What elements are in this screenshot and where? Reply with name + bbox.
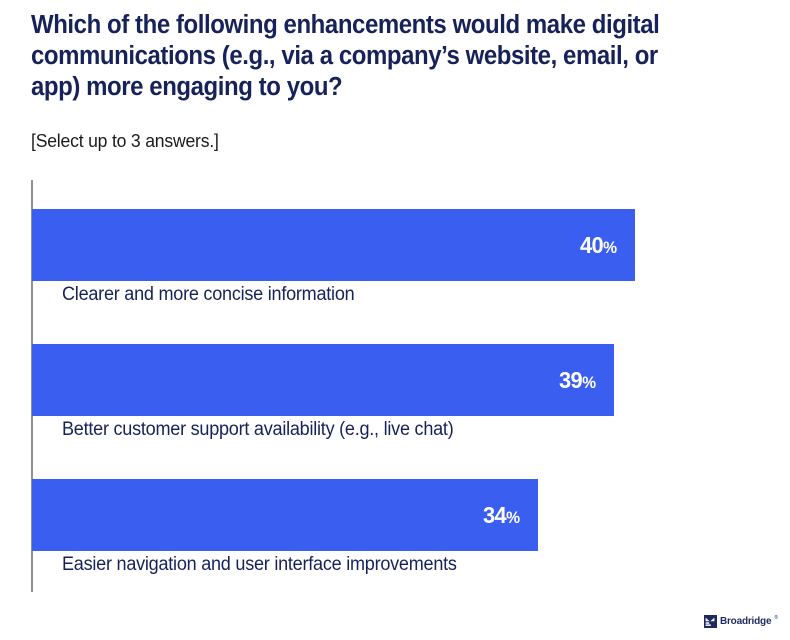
bar-value-label: 39% [559, 369, 596, 392]
bar-value-label: 40% [580, 234, 617, 257]
brand-trademark: ® [774, 616, 778, 621]
bar-better-customer-support-availability[interactable]: 39% [32, 344, 614, 416]
brand-name: Broadridge [720, 617, 771, 627]
percent-sign: % [506, 509, 520, 527]
bar-clearer-and-more-concise-information[interactable]: 40% [32, 209, 635, 281]
bar-value-label: 34% [483, 504, 520, 527]
broadridge-mark-icon [704, 615, 717, 628]
bar-row: 34% Easier navigation and user interface… [32, 479, 538, 551]
bar-row: 39% Better customer support availability… [32, 344, 614, 416]
bar-chart: 40% Clearer and more concise information… [0, 0, 790, 640]
bar-row: 40% Clearer and more concise information [32, 209, 635, 281]
percent-sign: % [603, 239, 617, 257]
percent-sign: % [582, 374, 596, 392]
bar-easier-navigation-and-ui-improvements[interactable]: 34% [32, 479, 538, 551]
bar-category-label: Easier navigation and user interface imp… [62, 553, 457, 577]
broadridge-logo: Broadridge ® [704, 615, 778, 628]
bar-category-label: Clearer and more concise information [62, 283, 354, 307]
bar-category-label: Better customer support availability (e.… [62, 418, 453, 442]
broadridge-glyph-icon [705, 617, 715, 627]
